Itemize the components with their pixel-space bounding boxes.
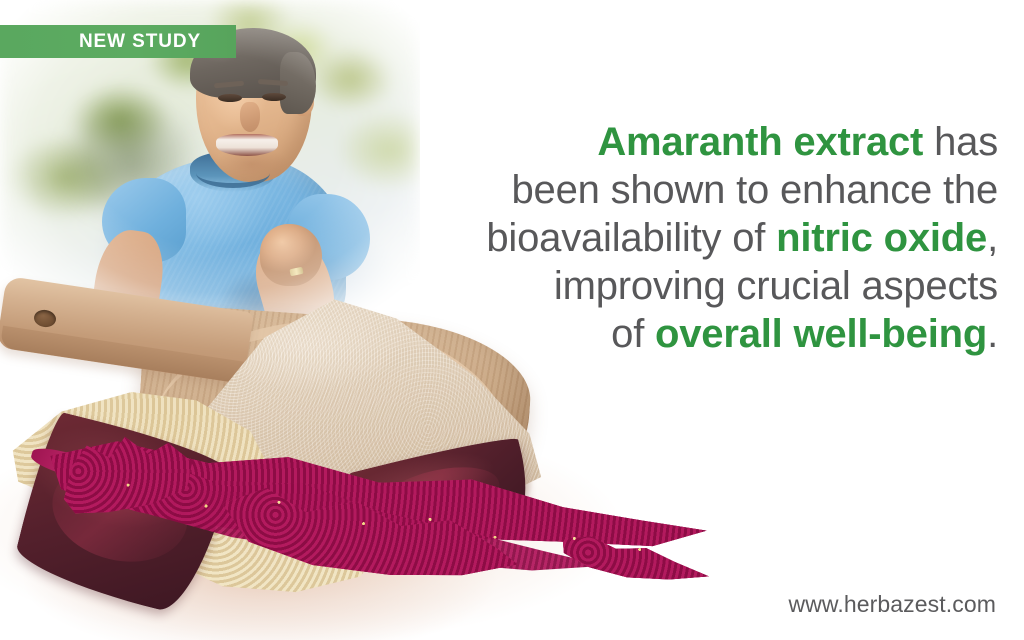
tshirt-neckline	[196, 158, 270, 188]
headline-text: been shown to enhance the	[511, 168, 998, 212]
headline-line-3: bioavailability of nitric oxide,	[378, 214, 998, 262]
runner-right-eye	[262, 93, 286, 101]
headline-text: bioavailability of	[486, 216, 776, 260]
headline-line-2: been shown to enhance the	[378, 166, 998, 214]
runner-fist	[260, 224, 322, 286]
runner-nose	[240, 102, 260, 132]
headline-text: has	[923, 120, 998, 164]
headline: Amaranth extract hasbeen shown to enhanc…	[378, 118, 998, 358]
headline-text: of	[611, 312, 655, 356]
headline-line-5: of overall well-being.	[378, 310, 998, 358]
headline-emphasis: overall well-being	[655, 312, 987, 356]
headline-text: .	[987, 312, 998, 356]
website-url: www.herbazest.com	[789, 591, 997, 618]
promo-banner: NEW STUDY Amaranth extract hasbeen shown…	[0, 0, 1024, 640]
headline-text: improving crucial aspects	[554, 264, 998, 308]
headline-emphasis: Amaranth extract	[597, 120, 923, 164]
headline-emphasis: nitric oxide	[776, 216, 987, 260]
runner-smile	[216, 134, 278, 156]
runner-left-eye	[218, 94, 242, 102]
headline-text: ,	[987, 216, 998, 260]
headline-line-4: improving crucial aspects	[378, 262, 998, 310]
headline-line-1: Amaranth extract has	[378, 118, 998, 166]
new-study-badge-label: NEW STUDY	[35, 31, 201, 53]
new-study-badge: NEW STUDY	[0, 25, 236, 58]
